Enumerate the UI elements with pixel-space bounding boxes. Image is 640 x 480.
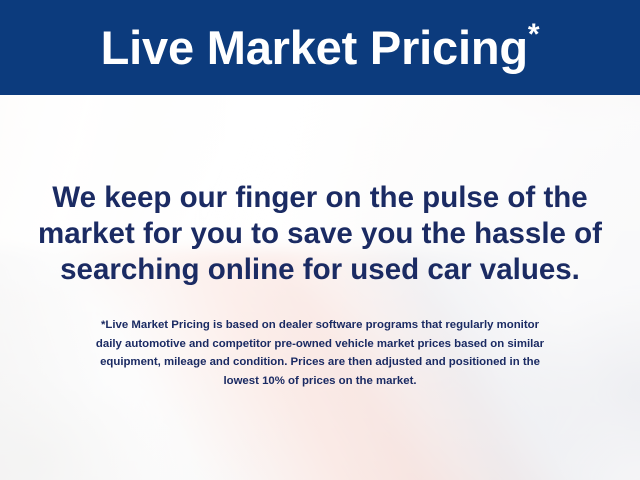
title-banner: Live Market Pricing* bbox=[0, 0, 640, 95]
page-title: Live Market Pricing* bbox=[101, 20, 540, 75]
headline-text: We keep our finger on the pulse of the m… bbox=[0, 180, 640, 288]
content-area: We keep our finger on the pulse of the m… bbox=[0, 95, 640, 480]
live-market-pricing-banner: Live Market Pricing* We keep our finger … bbox=[0, 0, 640, 480]
headline-line-1: We keep our finger on the pulse of the bbox=[18, 180, 622, 216]
page-title-text: Live Market Pricing bbox=[101, 21, 528, 74]
disclaimer-text: *Live Market Pricing is based on dealer … bbox=[0, 316, 640, 390]
disclaimer-line-2: daily automotive and competitor pre-owne… bbox=[22, 335, 618, 354]
disclaimer-line-3: equipment, mileage and condition. Prices… bbox=[22, 353, 618, 372]
page-title-asterisk: * bbox=[528, 18, 539, 51]
headline-line-3: searching online for used car values. bbox=[18, 252, 622, 288]
headline-line-2: market for you to save you the hassle of bbox=[18, 216, 622, 252]
disclaimer-line-4: lowest 10% of prices on the market. bbox=[22, 372, 618, 391]
disclaimer-line-1: *Live Market Pricing is based on dealer … bbox=[22, 316, 618, 335]
